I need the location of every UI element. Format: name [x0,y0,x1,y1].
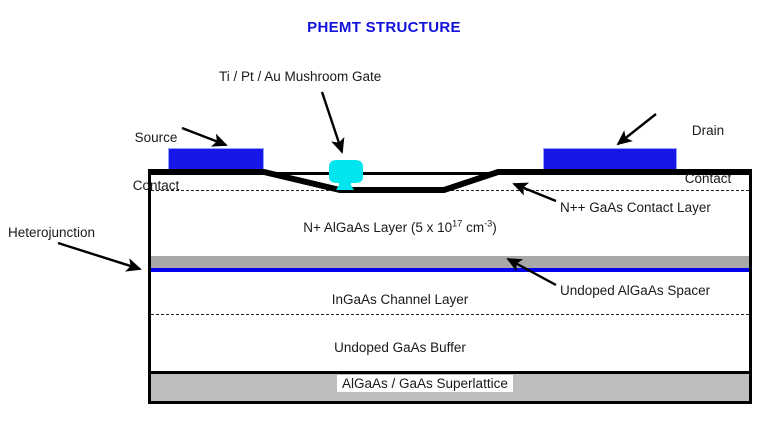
phemt-structure-diagram: PHEMT STRUCTURE [0,0,768,439]
n-plus-algaas-prefix: N+ AlGaAs Layer (5 x 10 [303,220,452,235]
drain-contact-label-line1: Drain [662,123,754,139]
drain-contact-label-line2: Contact [662,171,754,187]
undoped-algaas-spacer-label: Undoped AlGaAs Spacer [560,283,710,299]
undoped-gaas-buffer-caption: Undoped GaAs Buffer [300,340,500,356]
heterojunction-label: Heterojunction [8,225,95,241]
gate-label: Ti / Pt / Au Mushroom Gate [219,69,381,85]
n-plus-algaas-layer-caption: N+ AlGaAs Layer (5 x 1017 cm-3) [250,220,550,236]
n-plus-algaas-suffix: ) [492,220,497,235]
source-contact-label-line1: Source [106,130,206,146]
n-plus-plus-contact-layer-label: N++ GaAs Contact Layer [560,200,711,216]
source-contact-label: Source Contact [106,98,206,226]
ingaas-channel-layer-caption: InGaAs Channel Layer [300,292,500,308]
superlattice-caption: AlGaAs / GaAs Superlattice [337,375,513,392]
n-plus-algaas-exponent-1: 17 [452,219,462,229]
source-contact-label-line2: Contact [106,178,206,194]
n-plus-algaas-mid: cm [462,220,484,235]
